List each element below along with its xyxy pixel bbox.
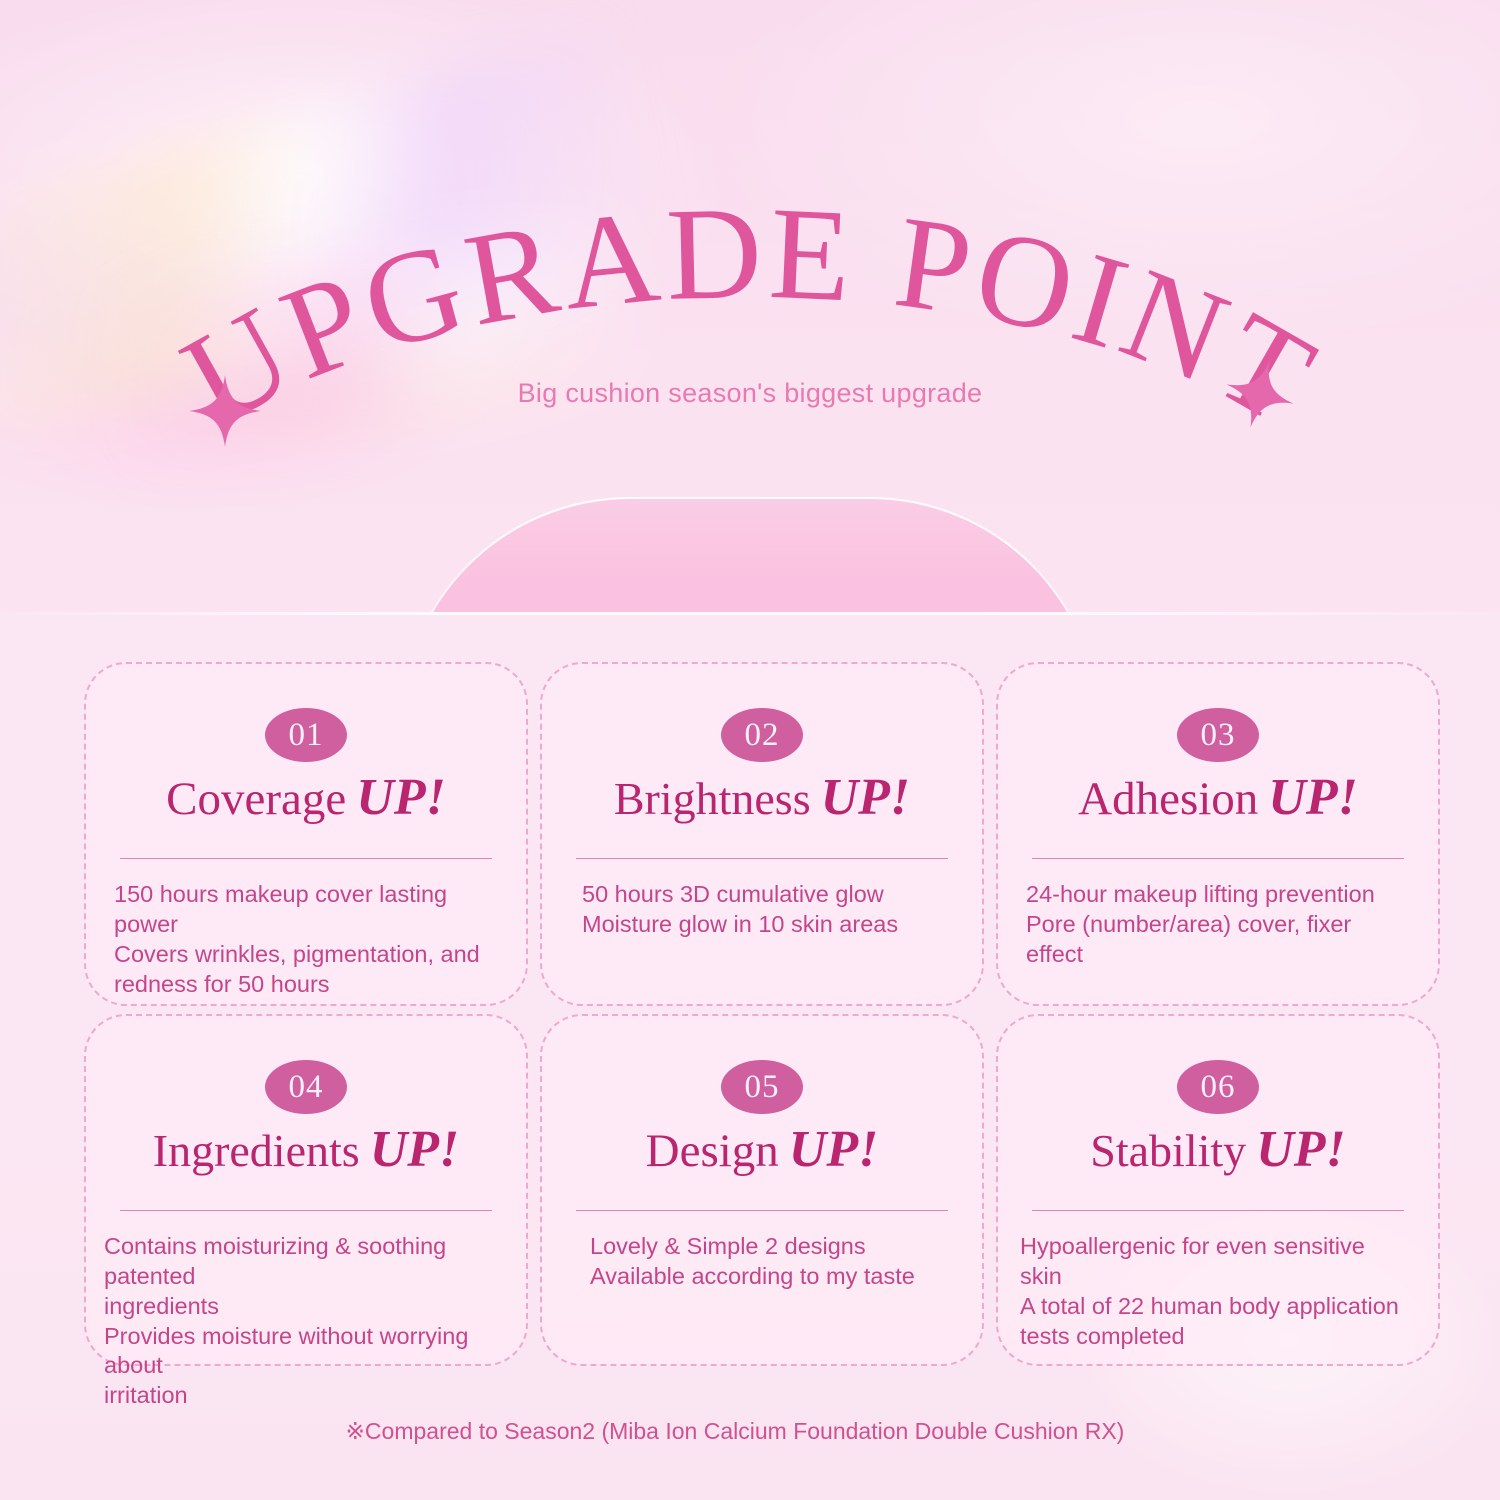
card-number-badge: 05 — [721, 1060, 803, 1114]
card-title: Stability — [1090, 1125, 1246, 1176]
card-title: Design — [646, 1125, 779, 1177]
card-up-label: UP! — [356, 769, 446, 826]
card-headline: IngredientsUP! — [86, 1120, 526, 1179]
upgrade-points-grid: 01 CoverageUP! 150 hours makeup cover la… — [78, 662, 1446, 1374]
card-description: 50 hours 3D cumulative glow Moisture glo… — [582, 880, 970, 940]
card-title: Adhesion — [1078, 773, 1258, 825]
card-description: 24-hour makeup lifting prevention Pore (… — [1026, 880, 1414, 970]
promo-page: UPGRADE POINT Big cushion season's bigge… — [0, 0, 1500, 1500]
upgrade-card-02: 02 BrightnessUP! 50 hours 3D cumulative … — [540, 662, 984, 1006]
page-title: UPGRADE POINT — [160, 180, 1341, 454]
card-up-label: UP! — [370, 1121, 460, 1178]
card-headline: BrightnessUP! — [542, 768, 982, 827]
card-headline: AdhesionUP! — [998, 768, 1438, 827]
card-divider — [1032, 858, 1404, 859]
upgrade-card-06: 06 StabilityUP! Hypoallergenic for even … — [996, 1014, 1440, 1366]
upgrade-card-05: 05 DesignUP! Lovely & Simple 2 designs A… — [540, 1014, 984, 1366]
card-headline: StabilityUP! — [998, 1120, 1438, 1179]
card-description: Hypoallergenic for even sensitive skin A… — [1020, 1232, 1408, 1351]
card-divider — [576, 1210, 948, 1211]
card-up-label: UP! — [821, 769, 911, 826]
upgrade-card-03: 03 AdhesionUP! 24-hour makeup lifting pr… — [996, 662, 1440, 1006]
footnote-text: ※Compared to Season2 (Miba Ion Calcium F… — [0, 1418, 1500, 1445]
card-up-label: UP! — [789, 1121, 879, 1178]
card-title: Brightness — [614, 773, 811, 824]
card-description: Contains moisturizing & soothing patente… — [104, 1232, 492, 1411]
horizon-line — [0, 612, 1500, 615]
card-divider — [120, 858, 492, 859]
card-number-badge: 04 — [265, 1060, 347, 1114]
card-divider — [1032, 1210, 1404, 1211]
card-title: Coverage — [166, 773, 346, 825]
card-up-label: UP! — [1256, 1121, 1346, 1178]
card-headline: DesignUP! — [542, 1120, 982, 1179]
dome-shape — [400, 497, 1100, 612]
card-number-badge: 02 — [721, 708, 803, 762]
title-block: UPGRADE POINT — [0, 180, 1500, 460]
page-subtitle: Big cushion season's biggest upgrade — [0, 378, 1500, 409]
card-headline: CoverageUP! — [86, 768, 526, 827]
card-number-badge: 03 — [1177, 708, 1259, 762]
card-divider — [576, 858, 948, 859]
card-description: Lovely & Simple 2 designs Available acco… — [590, 1232, 978, 1292]
upgrade-card-01: 01 CoverageUP! 150 hours makeup cover la… — [84, 662, 528, 1006]
card-number-badge: 06 — [1177, 1060, 1259, 1114]
card-number-badge: 01 — [265, 708, 347, 762]
card-up-label: UP! — [1268, 769, 1358, 826]
upgrade-card-04: 04 IngredientsUP! Contains moisturizing … — [84, 1014, 528, 1366]
card-description: 150 hours makeup cover lasting power Cov… — [114, 880, 502, 999]
card-title: Ingredients — [153, 1125, 360, 1176]
card-divider — [120, 1210, 492, 1211]
